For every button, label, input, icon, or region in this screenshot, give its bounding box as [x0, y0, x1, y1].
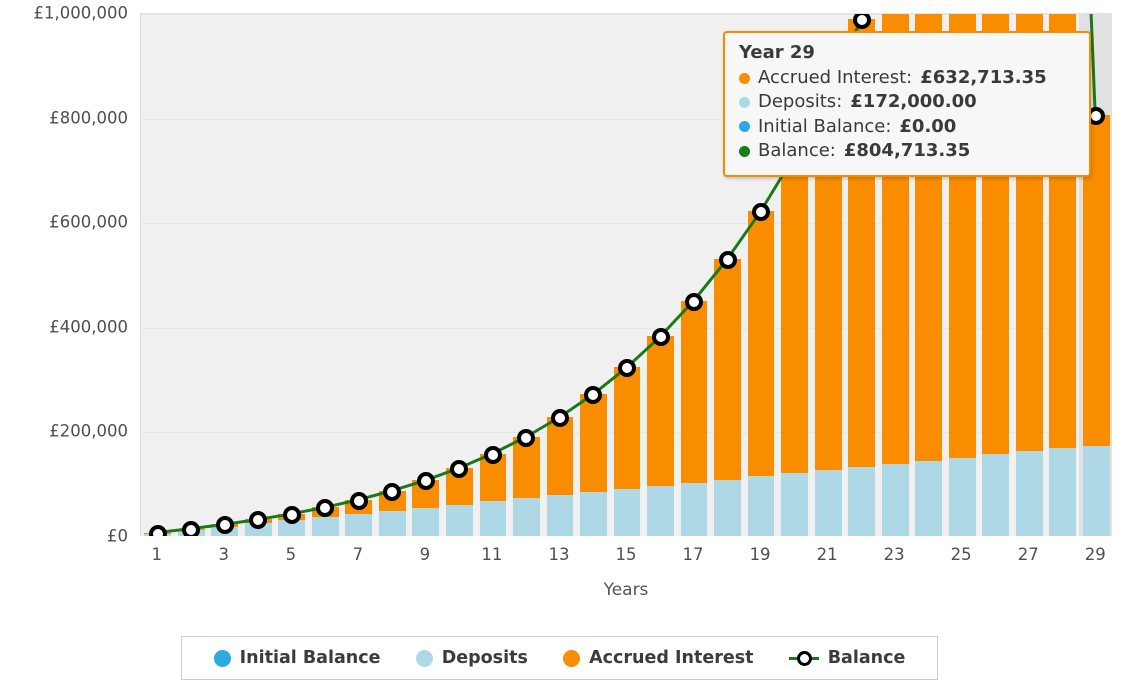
y-axis-tick-label: £200,000 [0, 422, 128, 441]
savings-growth-chart: £1,000,000£800,000£600,000£400,000£200,0… [0, 0, 1127, 692]
x-axis-tick-label: 19 [750, 545, 771, 564]
x-axis-tick-label: 5 [286, 545, 297, 564]
tooltip-row-value: £172,000.00 [850, 90, 976, 114]
tooltip-row: Deposits:£172,000.00 [739, 90, 1075, 114]
legend-item-deposits[interactable]: Deposits [416, 648, 528, 668]
x-axis-tick-label: 25 [951, 545, 972, 564]
legend-swatch-icon [416, 650, 433, 667]
x-axis-title: Years [140, 580, 1112, 600]
chart-legend[interactable]: Initial BalanceDepositsAccrued InterestB… [181, 636, 938, 680]
x-axis-tick-label: 13 [548, 545, 569, 564]
tooltip-row-label: Initial Balance: [758, 115, 891, 139]
tooltip-row: Accrued Interest:£632,713.35 [739, 66, 1075, 90]
y-axis-tick-label: £600,000 [0, 213, 128, 232]
tooltip-rows: Accrued Interest:£632,713.35Deposits:£17… [739, 66, 1075, 163]
tooltip-swatch-icon [739, 146, 750, 157]
x-axis-tick-label: 27 [1018, 545, 1039, 564]
tooltip-title: Year 29 [739, 42, 1075, 63]
legend-swatch-icon [563, 650, 580, 667]
x-axis-tick-label: 3 [219, 545, 230, 564]
tooltip-row-label: Balance: [758, 139, 836, 163]
legend-item-label: Deposits [442, 648, 528, 668]
tooltip-swatch-icon [739, 121, 750, 132]
x-axis-tick-label: 9 [420, 545, 431, 564]
legend-item-accrued-interest[interactable]: Accrued Interest [563, 648, 753, 668]
legend-swatch-icon [214, 650, 231, 667]
legend-item-label: Initial Balance [240, 648, 381, 668]
x-axis-tick-label: 29 [1085, 545, 1106, 564]
x-axis-tick-label: 23 [884, 545, 905, 564]
legend-item-label: Balance [828, 648, 906, 668]
y-axis-tick-label: £1,000,000 [0, 4, 128, 23]
tooltip-swatch-icon [739, 73, 750, 84]
tooltip-row: Balance:£804,713.35 [739, 139, 1075, 163]
legend-item-balance[interactable]: Balance [789, 648, 906, 668]
tooltip-row-value: £804,713.35 [844, 139, 970, 163]
y-axis-tick-label: £400,000 [0, 317, 128, 336]
legend-item-initial-balance[interactable]: Initial Balance [214, 648, 381, 668]
y-axis-tick-label: £800,000 [0, 108, 128, 127]
x-axis-tick-label: 7 [353, 545, 364, 564]
tooltip-row-label: Accrued Interest: [758, 66, 912, 90]
x-axis-tick-label: 17 [683, 545, 704, 564]
tooltip-row-label: Deposits: [758, 90, 842, 114]
tooltip-swatch-icon [739, 97, 750, 108]
x-axis-tick-label: 1 [152, 545, 163, 564]
hover-tooltip: Year 29 Accrued Interest:£632,713.35Depo… [723, 31, 1091, 177]
tooltip-row: Initial Balance:£0.00 [739, 115, 1075, 139]
x-axis-tick-label: 11 [481, 545, 502, 564]
x-axis-tick-label: 15 [616, 545, 637, 564]
tooltip-row-value: £632,713.35 [920, 66, 1046, 90]
legend-line-marker-icon [789, 650, 819, 667]
y-axis-tick-label: £0 [0, 527, 128, 546]
legend-item-label: Accrued Interest [589, 648, 753, 668]
tooltip-row-value: £0.00 [899, 115, 956, 139]
x-axis-tick-label: 21 [817, 545, 838, 564]
